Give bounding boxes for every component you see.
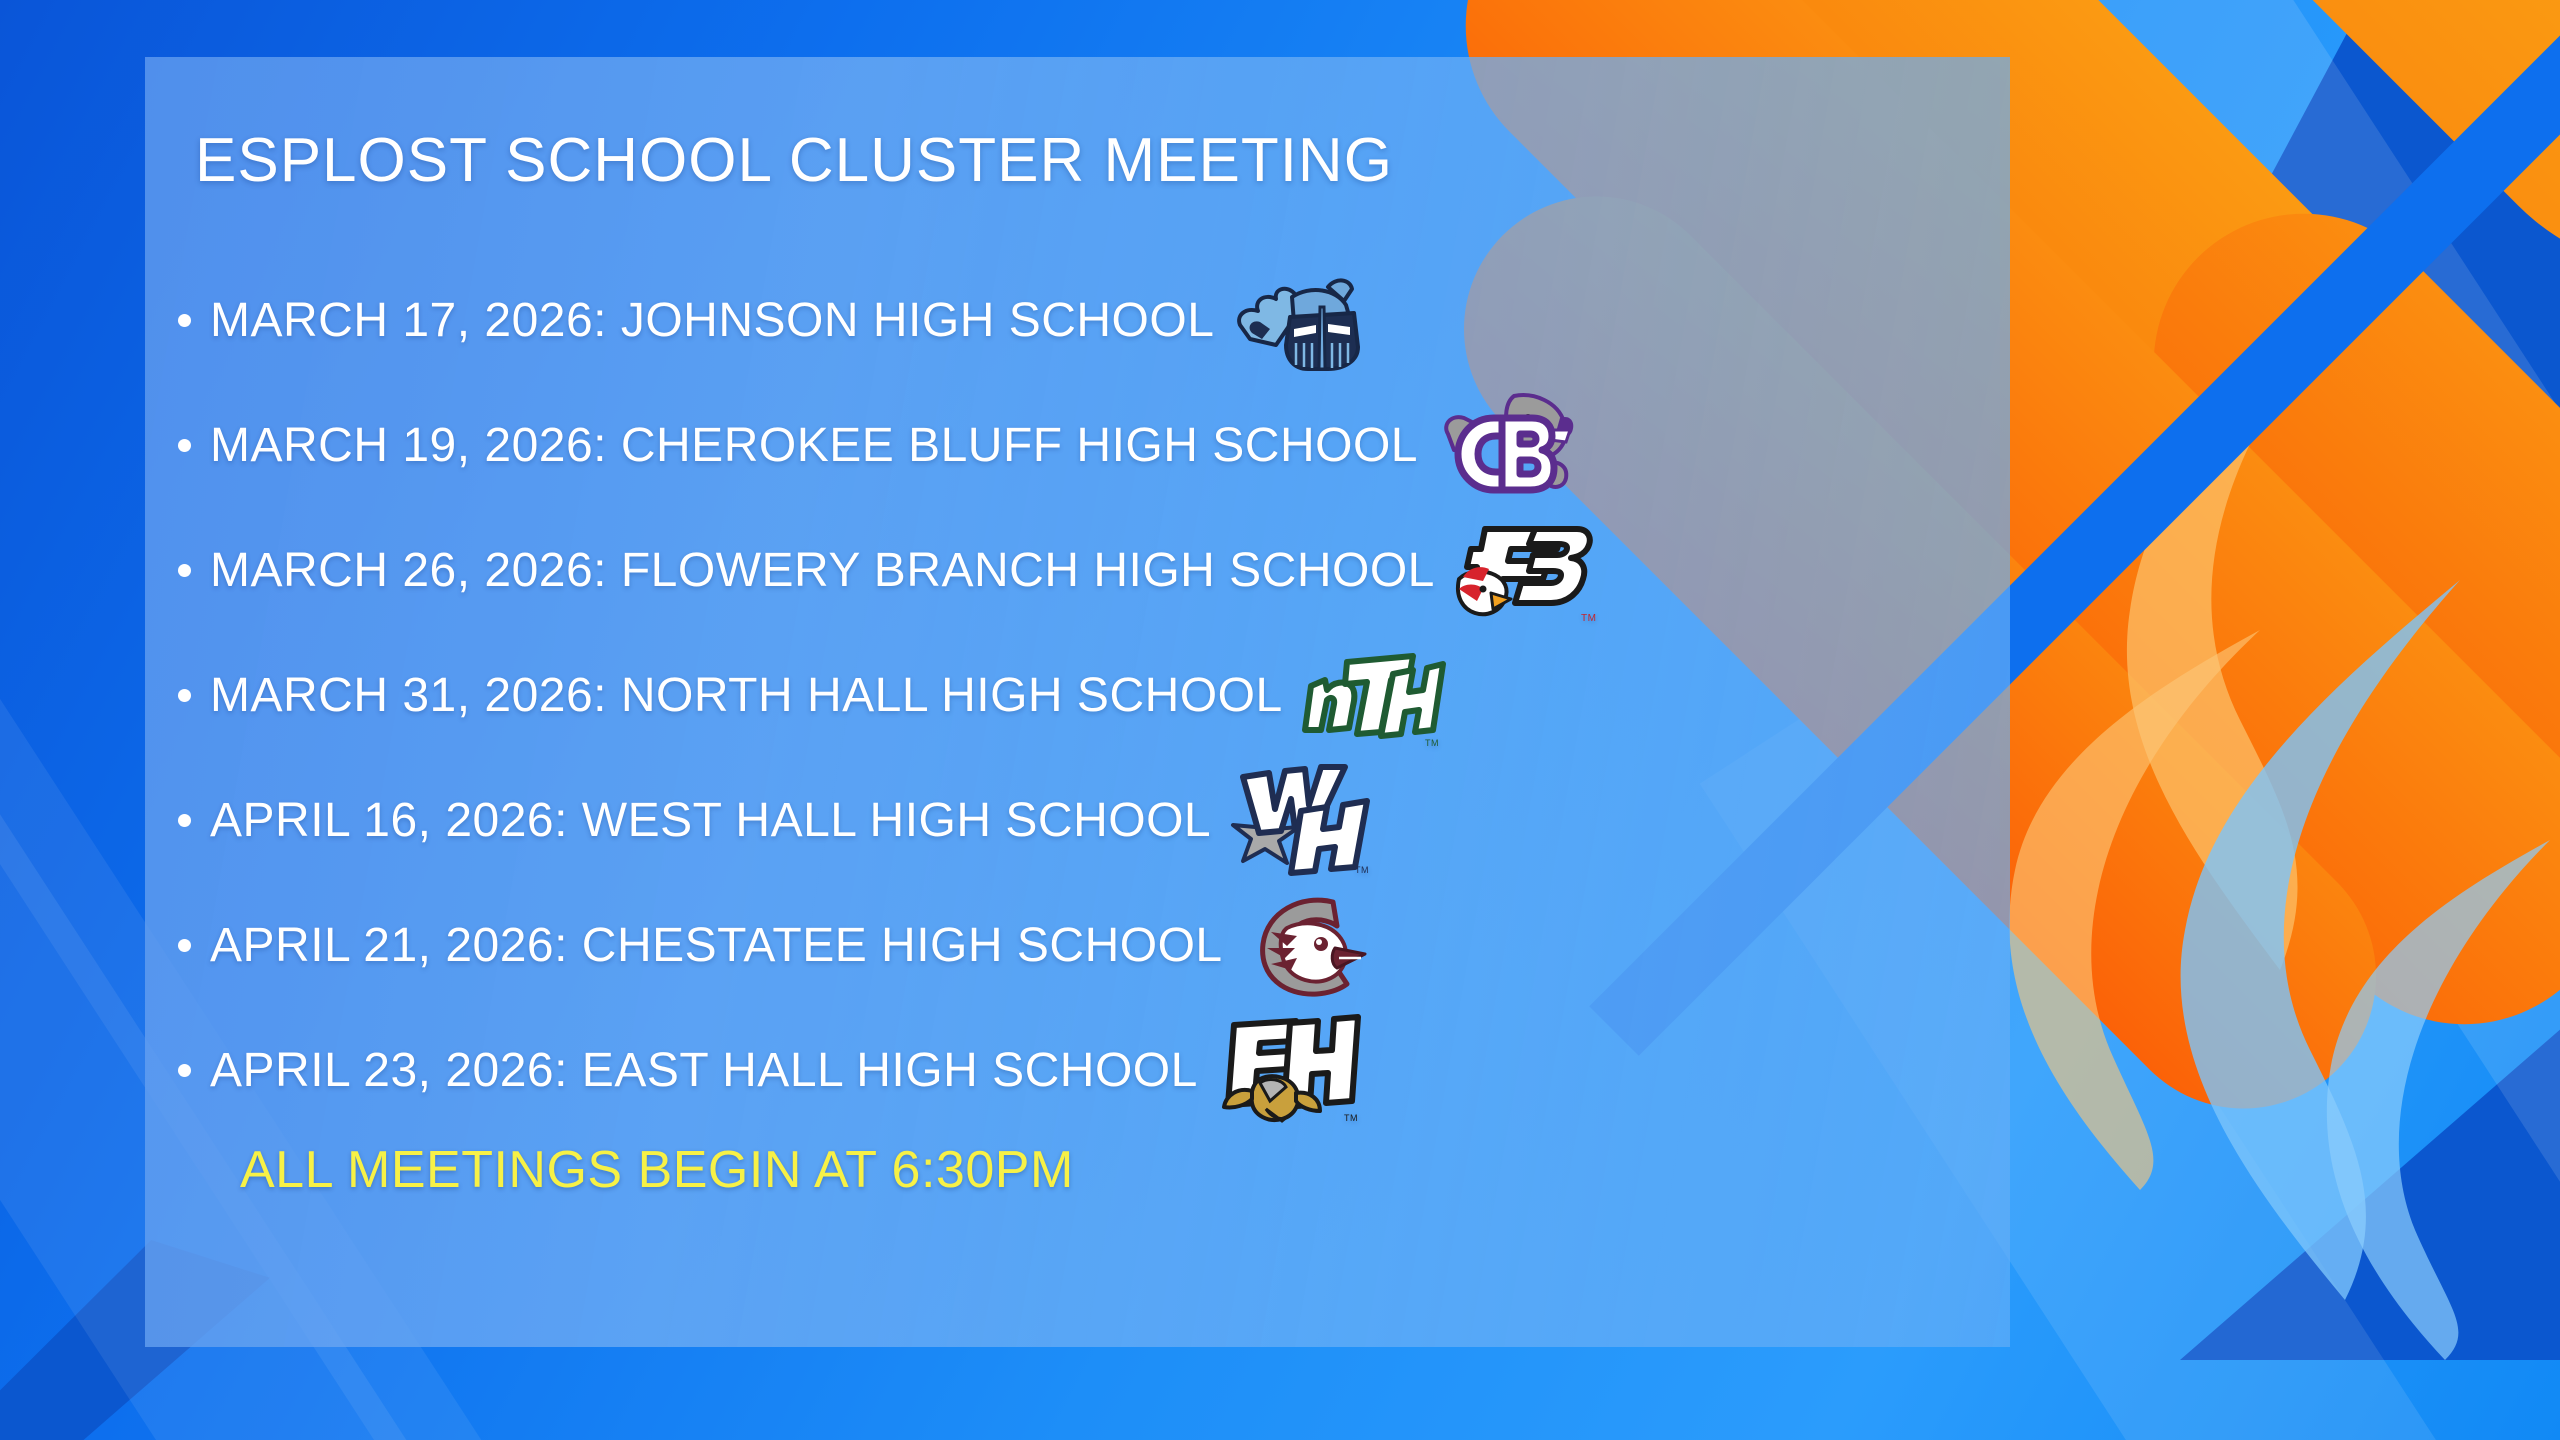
bullet-dot-icon [178, 314, 191, 327]
meeting-text: MARCH 31, 2026: NORTH HALL HIGH SCHOOL [210, 668, 1283, 723]
bullet-dot-icon [178, 1064, 191, 1077]
meeting-text: APRIL 23, 2026: EAST HALL HIGH SCHOOL [210, 1043, 1198, 1098]
presentation-slide: ESPLOST SCHOOL CLUSTER MEETING MARCH 17,… [0, 0, 2560, 1440]
deep-blue-wedge-top-right [1980, 0, 2560, 720]
list-item: APRIL 16, 2026: WEST HALL HIGH SCHOOL TM [178, 758, 1878, 883]
list-item: MARCH 26, 2026: FLOWERY BRANCH HIGH SCHO… [178, 508, 1878, 633]
north-hall-trojans-logo: TM [1301, 642, 1441, 750]
meeting-text: APRIL 21, 2026: CHESTATEE HIGH SCHOOL [210, 918, 1223, 973]
list-item: MARCH 19, 2026: CHEROKEE BLUFF HIGH SCHO… [178, 383, 1878, 508]
list-item: MARCH 31, 2026: NORTH HALL HIGH SCHOOL T… [178, 633, 1878, 758]
west-hall-spartans-logo: TM [1229, 767, 1369, 875]
flame-petal-blue-small [2300, 840, 2560, 1360]
east-hall-vikings-logo: TM [1216, 1017, 1356, 1125]
johnson-knights-logo [1232, 267, 1372, 375]
chestatee-war-eagles-logo [1241, 892, 1381, 1000]
bullet-dot-icon [178, 689, 191, 702]
orange-capsule-bar-4 [2092, 152, 2560, 1029]
bullet-dot-icon [178, 564, 191, 577]
meeting-time-note: ALL MEETINGS BEGIN AT 6:30PM [240, 1140, 1074, 1200]
meeting-text: APRIL 16, 2026: WEST HALL HIGH SCHOOL [210, 793, 1211, 848]
list-item: APRIL 23, 2026: EAST HALL HIGH SCHOOL [178, 1008, 1878, 1133]
list-item: APRIL 21, 2026: CHESTATEE HIGH SCHOOL [178, 883, 1878, 1008]
flame-petal-large [2070, 270, 2450, 970]
page-title: ESPLOST SCHOOL CLUSTER MEETING [195, 125, 1393, 196]
svg-text:TM: TM [1425, 738, 1439, 748]
cherokee-bluff-bears-logo [1436, 392, 1576, 500]
meeting-text: MARCH 17, 2026: JOHNSON HIGH SCHOOL [210, 293, 1214, 348]
svg-text:TM: TM [1344, 1113, 1358, 1123]
svg-text:TM: TM [1355, 865, 1369, 875]
bullet-dot-icon [178, 439, 191, 452]
bullet-dot-icon [178, 939, 191, 952]
meeting-text: MARCH 19, 2026: CHEROKEE BLUFF HIGH SCHO… [210, 418, 1418, 473]
flowery-branch-falcons-logo: TM [1453, 517, 1593, 625]
list-item: MARCH 17, 2026: JOHNSON HIGH SCHOOL [178, 258, 1878, 383]
orange-capsule-bar-1 [1924, 0, 2560, 318]
meeting-text: MARCH 26, 2026: FLOWERY BRANCH HIGH SCHO… [210, 543, 1435, 598]
svg-text:TM: TM [1581, 613, 1596, 624]
deep-blue-wedge-bottom-right [2180, 960, 2560, 1360]
bullet-dot-icon [178, 814, 191, 827]
flame-petal-medium [1980, 630, 2310, 1190]
flame-petal-blue-large [2130, 580, 2530, 1300]
meeting-list: MARCH 17, 2026: JOHNSON HIGH SCHOOL [178, 258, 1878, 1133]
